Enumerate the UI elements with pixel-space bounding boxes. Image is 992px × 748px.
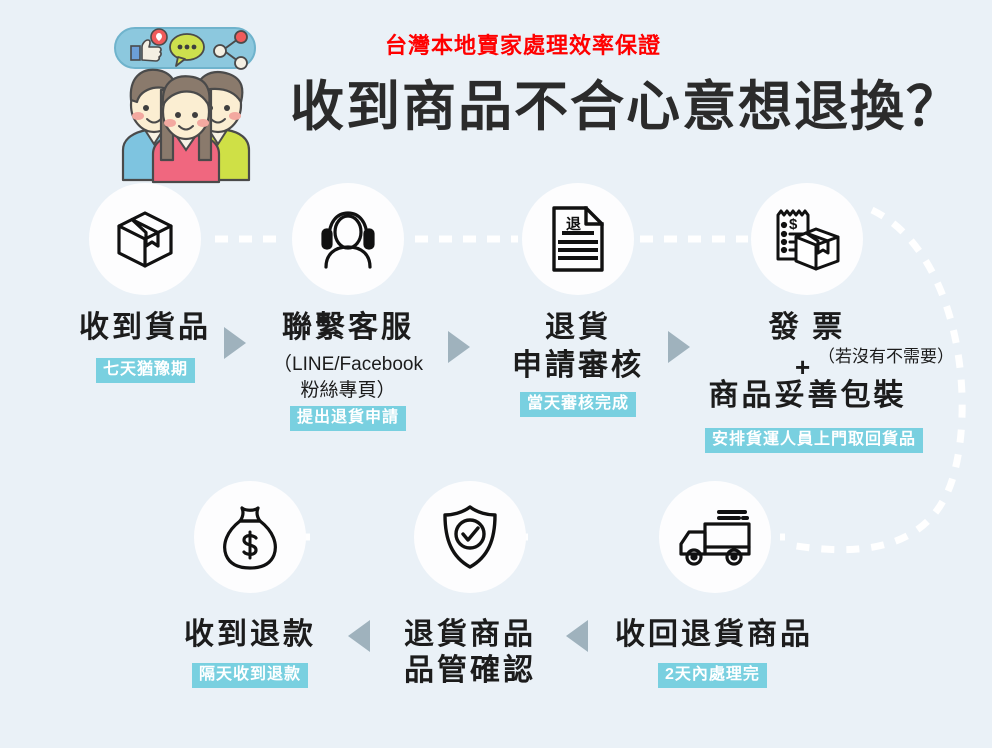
infographic-canvas: 台灣本地賣家處理效率保證 收到商品不合心意想退換？ bbox=[0, 0, 992, 748]
step-2-label: 聯繫客服 bbox=[281, 310, 415, 345]
page-title: 收到商品不合心意想退換？ bbox=[290, 62, 962, 141]
step-6-label-line2: 品管確認 bbox=[403, 653, 537, 688]
step-5-label: 收回退貨商品 bbox=[614, 617, 814, 652]
return-document-icon: 退 bbox=[546, 203, 610, 275]
svg-text:退: 退 bbox=[566, 216, 581, 233]
step-circle-6 bbox=[414, 481, 526, 593]
step-2-sub-line1: （LINE/Facebook bbox=[249, 352, 447, 378]
step-circle-1 bbox=[89, 183, 201, 295]
step-circle-4: $ bbox=[751, 183, 863, 295]
step-3-label-line1: 退貨 bbox=[511, 310, 645, 345]
step-1-badge: 七天猶豫期 bbox=[96, 358, 195, 383]
shield-check-icon bbox=[438, 502, 502, 572]
svg-text:$: $ bbox=[789, 216, 798, 233]
step-7-label: 收到退款 bbox=[183, 617, 317, 652]
step-circle-3: 退 bbox=[522, 183, 634, 295]
arrow-right-icon-1 bbox=[224, 327, 246, 359]
step-4-label-line2: 商品妥善包裝 bbox=[700, 378, 915, 413]
step-1-label: 收到貨品 bbox=[78, 310, 212, 345]
step-6-label-line1: 退貨商品 bbox=[403, 617, 537, 652]
step-3-badge: 當天審核完成 bbox=[520, 392, 636, 417]
step-4-badge: 安排貨運人員上門取回貨品 bbox=[705, 428, 923, 453]
step-circle-5 bbox=[659, 481, 771, 593]
step-4-label-line1: 發 票 bbox=[740, 310, 874, 345]
receipt-and-box-icon: $ bbox=[768, 203, 846, 275]
three-people-social-illustration bbox=[105, 20, 265, 185]
step-5-badge: 2天內處理完 bbox=[658, 663, 767, 688]
arrow-left-icon-2 bbox=[566, 620, 588, 652]
header-subtitle: 台灣本地賣家處理效率保證 bbox=[385, 28, 661, 60]
step-circle-7 bbox=[194, 481, 306, 593]
arrow-left-icon-1 bbox=[348, 620, 370, 652]
step-7-badge: 隔天收到退款 bbox=[192, 663, 308, 688]
money-bag-icon bbox=[217, 502, 283, 572]
arrow-right-icon-3 bbox=[668, 331, 690, 363]
step-4-note: （若沒有不需要） bbox=[818, 342, 954, 367]
step-3-label-line2: 申請審核 bbox=[511, 348, 645, 383]
arrow-right-icon-2 bbox=[448, 331, 470, 363]
package-box-icon bbox=[109, 203, 181, 275]
step-2-badge: 提出退貨申請 bbox=[290, 406, 406, 431]
headset-support-agent-icon bbox=[313, 204, 383, 274]
delivery-truck-icon bbox=[675, 504, 755, 570]
step-2-sub-line2: 粉絲專頁） bbox=[249, 378, 447, 404]
step-circle-2 bbox=[292, 183, 404, 295]
